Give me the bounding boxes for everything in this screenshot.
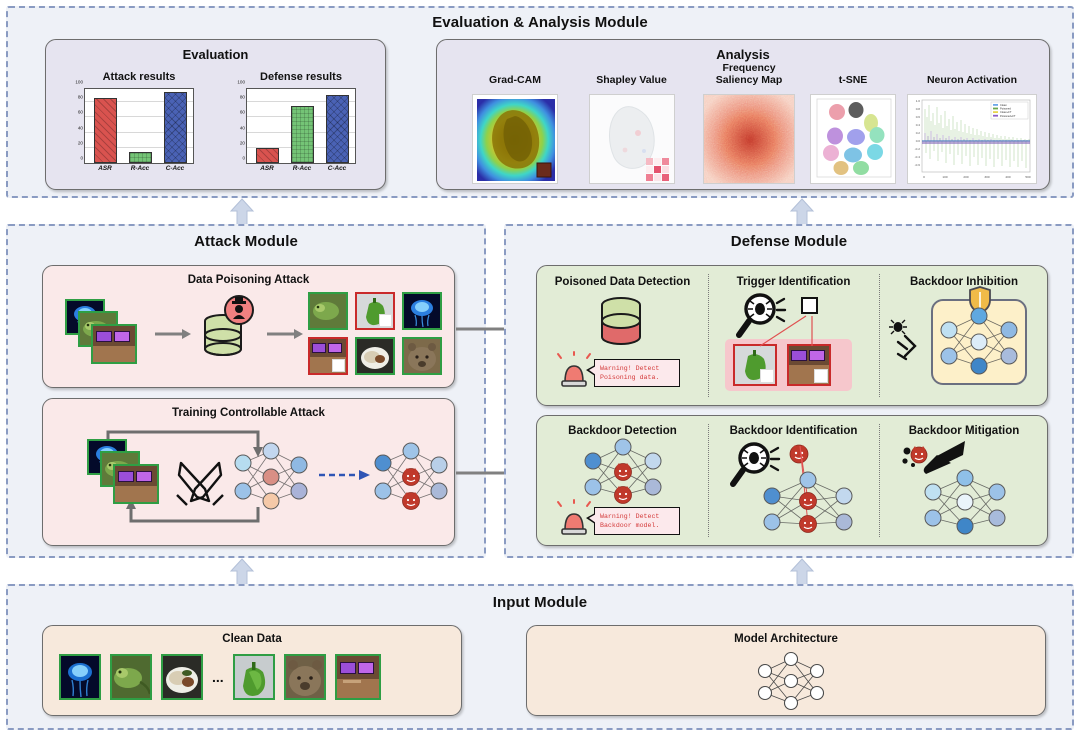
y-tick: 60 <box>78 110 83 115</box>
defense-module-title: Defense Module <box>506 233 1072 250</box>
model-architecture-network-icon <box>755 651 827 711</box>
image-tile-monitor <box>113 464 159 504</box>
neuron-activation-caption: Neuron Activation <box>901 74 1043 86</box>
image-tile-pepper-trigger <box>733 344 777 386</box>
poisoned-dataset-grid <box>308 292 448 378</box>
analysis-panel-title: Analysis <box>437 47 1049 62</box>
backdoor-mitigation-title: Backdoor Mitigation <box>879 425 1049 437</box>
bar-c-acc <box>326 95 349 163</box>
grad-cam-image <box>472 94 558 184</box>
trigger-patch <box>814 369 828 383</box>
arrow-defense-to-evaluation <box>790 199 814 225</box>
model-architecture-panel: Model Architecture <box>526 625 1046 716</box>
svg-text:Clean+FT: Clean+FT <box>1000 110 1012 114</box>
svg-text:-0.2: -0.2 <box>915 147 921 151</box>
svg-text:0.6: 0.6 <box>916 115 921 119</box>
arrow-to-database <box>155 328 191 340</box>
bar-asr <box>256 148 279 163</box>
evaluation-analysis-module-title: Evaluation & Analysis Module <box>8 14 1072 31</box>
backdoor-warning-bubble: Warning! Detect Backdoor model. <box>594 507 680 535</box>
protected-network-icon <box>937 306 1021 378</box>
defense-module: Defense Module Poisoned Data Detection <box>504 224 1074 558</box>
clean-data-thumbnails: ... <box>59 654 381 700</box>
svg-text:-0.6: -0.6 <box>915 163 921 167</box>
poisoned-database-icon <box>591 296 651 348</box>
image-tile-bear-clean <box>402 337 442 375</box>
image-tile-lizard-clean <box>308 292 348 330</box>
frequency-saliency-caption-line2: Saliency Map <box>689 74 809 86</box>
svg-text:200: 200 <box>963 175 968 179</box>
backdoor-mitigation-section: Backdoor Mitigation <box>879 416 1049 547</box>
x-tick: ASR <box>98 165 112 172</box>
defense-row1-panel: Poisoned Data Detection Warning! Detect … <box>536 265 1048 406</box>
shapley-caption: Shapley Value <box>574 74 689 86</box>
analysis-item-tsne: t-SNE <box>799 74 907 184</box>
y-tick: 40 <box>240 125 245 130</box>
bar-asr <box>94 98 117 163</box>
svg-text:500: 500 <box>1025 175 1030 179</box>
shapley-image <box>589 94 675 184</box>
backdoor-neuron-badge <box>788 443 810 465</box>
y-tick: 100 <box>75 80 83 85</box>
trigger-patch <box>379 314 392 327</box>
grad-cam-caption: Grad-CAM <box>459 74 571 86</box>
image-tile-monitor <box>335 654 381 700</box>
attack-module: Attack Module Data Poisoning Attack <box>6 224 486 558</box>
tsne-image <box>810 94 896 184</box>
trigger-patch-icon <box>801 297 818 314</box>
backdoor-detection-section: Backdoor Detection <box>537 416 708 547</box>
arrow-to-backdoored-model <box>319 469 371 481</box>
deflected-bug-icon <box>889 318 931 370</box>
input-module: Input Module Clean Data ... <box>6 584 1074 730</box>
analysis-panel: Analysis Grad-CAM <box>436 39 1050 190</box>
backdoor-inhibition-section: Backdoor Inhibition <box>879 266 1049 407</box>
bar-r-acc <box>129 152 152 163</box>
frequency-saliency-caption-line1: Frequency <box>689 62 809 74</box>
arrow-attack-to-evaluation <box>230 199 254 225</box>
data-poisoning-attack-title: Data Poisoning Attack <box>43 274 454 286</box>
analysis-item-grad-cam: Grad-CAM <box>459 74 571 184</box>
backdoor-inhibition-title: Backdoor Inhibition <box>879 276 1049 288</box>
trigger-identification-section: Trigger Identification <box>708 266 879 407</box>
crossed-swords-icon <box>175 457 225 507</box>
bar-c-acc <box>164 92 187 163</box>
attack-results-chart: Attack results 0 20 40 60 80 100 ASR R-A… <box>64 71 214 181</box>
y-tick: 0 <box>242 156 245 161</box>
backdoor-identification-title: Backdoor Identification <box>708 425 879 437</box>
image-tile-lizard <box>110 654 152 700</box>
analysis-item-neuron-activation: Neuron Activation 1.00.80.6 0.40.20.0 -0… <box>901 74 1043 184</box>
svg-text:400: 400 <box>1005 175 1010 179</box>
x-tick: C-Acc <box>166 165 184 172</box>
trigger-identification-title: Trigger Identification <box>708 276 879 288</box>
trigger-patch <box>332 359 345 372</box>
bar-r-acc <box>291 106 314 163</box>
poisoned-database-icon <box>195 292 259 372</box>
svg-text:1.0: 1.0 <box>916 99 921 103</box>
trigger-patch <box>760 369 774 383</box>
training-controllable-attack-panel: Training Controllable Attack <box>42 398 455 546</box>
svg-text:100: 100 <box>942 175 947 179</box>
backdoored-network-icon <box>373 441 449 513</box>
attack-module-title: Attack Module <box>8 233 484 250</box>
stacked-training-images <box>87 439 167 514</box>
analysis-item-shapley: Shapley Value <box>574 74 689 184</box>
y-tick: 80 <box>240 95 245 100</box>
defense-row2-panel: Backdoor Detection <box>536 415 1048 546</box>
image-tile-bear <box>284 654 326 700</box>
stacked-clean-images <box>65 299 145 374</box>
analysis-item-frequency-saliency: Frequency Saliency Map <box>689 62 809 184</box>
svg-text:0.4: 0.4 <box>916 123 921 127</box>
clean-data-panel: Clean Data ... <box>42 625 462 716</box>
image-tile-plate-clean <box>355 337 395 375</box>
image-tile-monitor-trigger <box>787 344 831 386</box>
arrow-input-to-attack <box>230 559 254 585</box>
y-tick: 40 <box>78 125 83 130</box>
image-tile-jellyfish <box>59 654 101 700</box>
backdoor-identification-section: Backdoor Identification <box>708 416 879 547</box>
image-tile-monitor <box>91 324 137 364</box>
clean-network-icon <box>233 441 309 513</box>
defense-results-chart: Defense results 0 20 40 60 80 100 ASR R-… <box>226 71 376 181</box>
poisoned-data-detection-title: Poisoned Data Detection <box>537 276 708 288</box>
model-architecture-title: Model Architecture <box>527 633 1045 645</box>
clean-data-ellipsis: ... <box>212 669 224 685</box>
x-tick: ASR <box>260 165 274 172</box>
tsne-caption: t-SNE <box>799 74 907 86</box>
defense-results-chart-title: Defense results <box>226 71 376 83</box>
evaluation-panel-title: Evaluation <box>46 47 385 62</box>
svg-text:300: 300 <box>984 175 989 179</box>
x-tick: C-Acc <box>328 165 346 172</box>
svg-text:Poisoned: Poisoned <box>1000 107 1011 111</box>
svg-text:0.8: 0.8 <box>916 107 921 111</box>
y-tick: 20 <box>240 140 245 145</box>
svg-text:Clean: Clean <box>1000 103 1007 107</box>
y-tick: 60 <box>240 110 245 115</box>
identified-network-icon <box>756 468 866 544</box>
y-tick: 0 <box>80 156 83 161</box>
evaluation-analysis-module: Evaluation & Analysis Module Evaluation … <box>6 6 1074 198</box>
backdoored-network-icon <box>581 439 665 507</box>
image-tile-monitor-poisoned <box>308 337 348 375</box>
attack-results-chart-title: Attack results <box>64 71 214 83</box>
defense-results-plot: 0 20 40 60 80 100 ASR R-Acc C-Acc <box>246 88 356 164</box>
image-tile-plate <box>161 654 203 700</box>
image-tile-pepper-poisoned <box>355 292 395 330</box>
arrow-to-poisoned-dataset <box>267 328 303 340</box>
cleaned-network-icon <box>919 468 1011 540</box>
svg-text:0.0: 0.0 <box>916 139 921 143</box>
svg-text:-0.4: -0.4 <box>915 155 921 159</box>
x-tick: R-Acc <box>293 165 311 172</box>
arrow-input-to-defense <box>790 559 814 585</box>
poisoning-warning-bubble: Warning! Detect Poisoning data. <box>594 359 680 387</box>
data-poisoning-attack-panel: Data Poisoning Attack <box>42 265 455 388</box>
backdoor-detection-title: Backdoor Detection <box>537 425 708 437</box>
image-tile-pepper <box>233 654 275 700</box>
image-tile-jellyfish-clean <box>402 292 442 330</box>
svg-text:0.2: 0.2 <box>916 131 921 135</box>
attack-results-plot: 0 20 40 60 80 100 ASR R-Acc C-Acc <box>84 88 194 164</box>
neuron-activation-chart: 1.00.80.6 0.40.20.0 -0.2-0.4-0.6 0100200… <box>907 94 1037 184</box>
magnifier-bug-icon <box>736 293 788 339</box>
y-tick: 100 <box>237 80 245 85</box>
evaluation-panel: Evaluation Attack results 0 20 40 60 80 … <box>45 39 386 190</box>
frequency-saliency-image <box>703 94 795 184</box>
y-tick: 20 <box>78 140 83 145</box>
y-tick: 80 <box>78 95 83 100</box>
clean-data-title: Clean Data <box>43 633 461 645</box>
x-tick: R-Acc <box>131 165 149 172</box>
input-module-title: Input Module <box>8 594 1072 611</box>
poisoned-data-detection-section: Poisoned Data Detection Warning! Detect … <box>537 266 708 407</box>
svg-text:0: 0 <box>923 175 925 179</box>
svg-text:Poisoned+FT: Poisoned+FT <box>1000 114 1016 118</box>
